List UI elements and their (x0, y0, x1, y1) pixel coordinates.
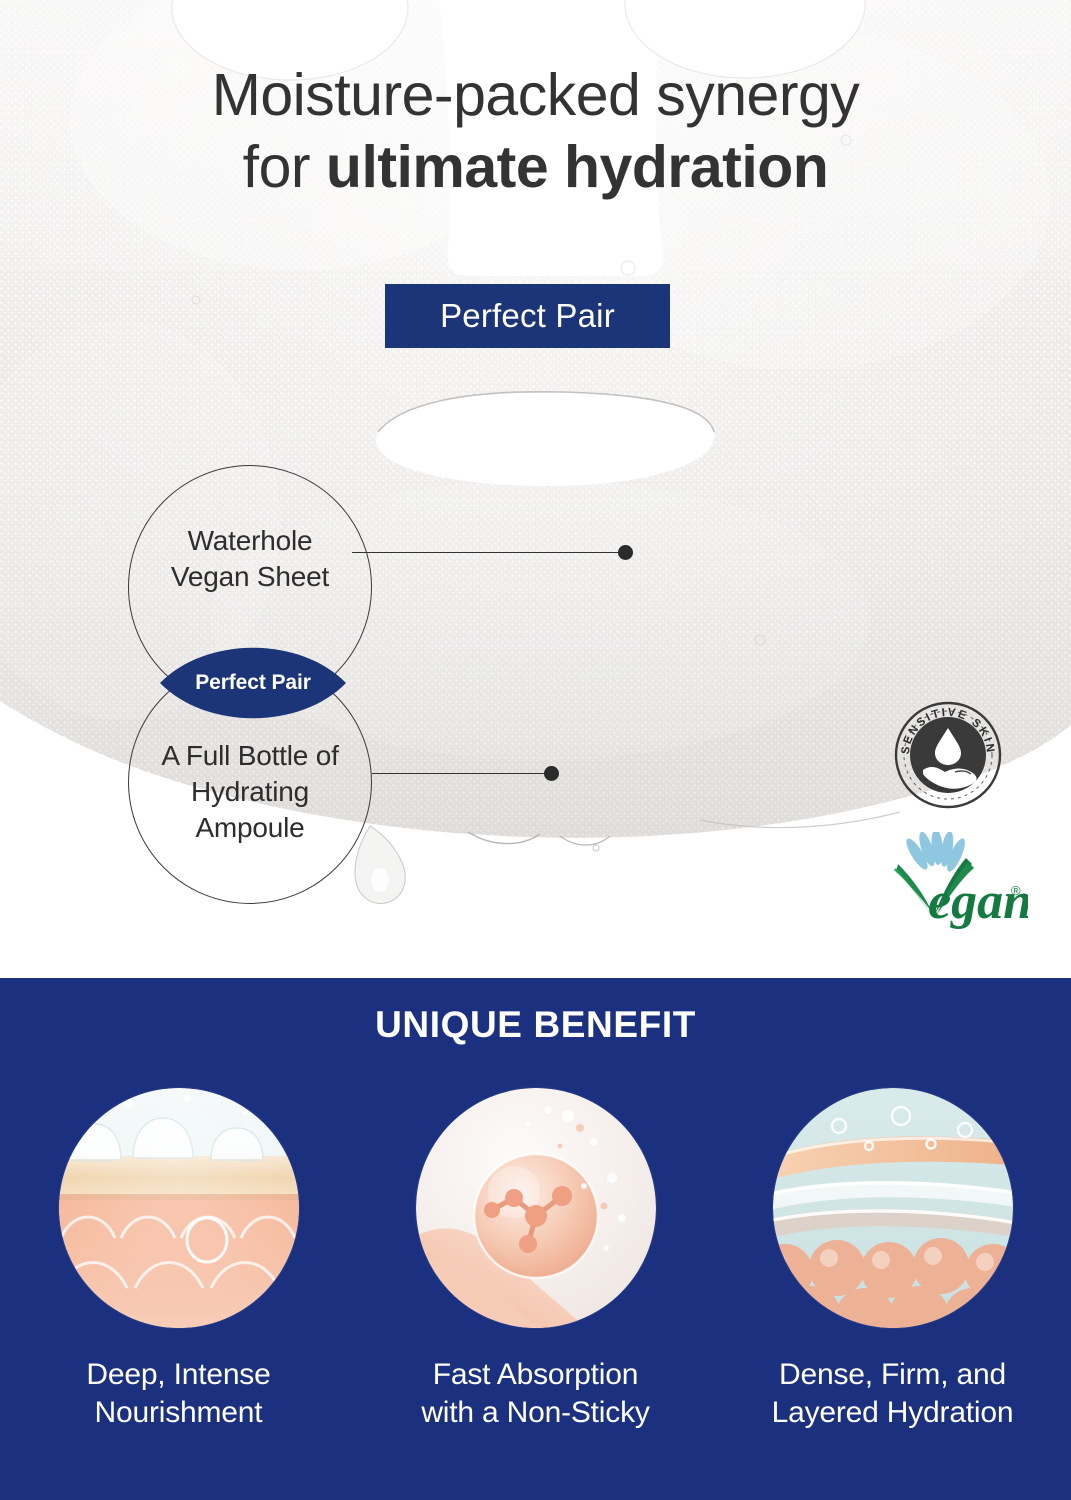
vegan-wordmark: egan (928, 873, 1028, 930)
registered-mark: ® (1011, 883, 1021, 898)
hero-section: Moisture-packed synergy for ultimate hyd… (0, 0, 1071, 978)
benefit-label-line-1: Deep, Intense (86, 1356, 270, 1394)
benefit-label-line-2: with a Non-Sticky (421, 1394, 649, 1432)
venn-label-sheet: Waterhole Vegan Sheet (128, 523, 372, 595)
leader-line-ampoule (372, 773, 552, 774)
benefit-list: Deep, Intense Nourishment (0, 1088, 1071, 1488)
benefit-label: Fast Absorption with a Non-Sticky (421, 1356, 649, 1433)
molecule-bubble-icon (416, 1088, 656, 1328)
leader-dot-ampoule (544, 766, 559, 781)
benefit-label: Dense, Firm, and Layered Hydration (772, 1356, 1014, 1433)
benefit-item: Fast Absorption with a Non-Sticky (366, 1088, 706, 1433)
leader-line-waterhole (352, 552, 625, 553)
benefit-item: Deep, Intense Nourishment (9, 1088, 349, 1433)
venn-label-ampoule: A Full Bottle of Hydrating Ampoule (128, 738, 372, 845)
sensitive-skin-tested-icon: SENSITIVE SKIN TESTED (893, 700, 1003, 810)
benefit-label-line-2: Nourishment (86, 1394, 270, 1432)
venn-overlap-lens: Perfect Pair (158, 644, 348, 722)
benefit-item: Dense, Firm, and Layered Hydration (723, 1088, 1063, 1433)
leader-dot-waterhole (618, 545, 633, 560)
unique-benefit-title: UNIQUE BENEFIT (0, 1004, 1071, 1046)
venn-label-ampoule-line-1: A Full Bottle of (128, 738, 372, 774)
venn-label-ampoule-line-3: Ampoule (128, 810, 372, 846)
venn-label-sheet-line-2: Vegan Sheet (128, 559, 372, 595)
layered-sheets-beads-icon (773, 1088, 1013, 1328)
product-infographic: Moisture-packed synergy for ultimate hyd… (0, 0, 1071, 1500)
venn-label-ampoule-line-2: Hydrating (128, 774, 372, 810)
venn-overlap-label: Perfect Pair (195, 671, 311, 695)
benefit-label-line-1: Dense, Firm, and (772, 1356, 1014, 1394)
benefit-label-line-1: Fast Absorption (421, 1356, 649, 1394)
skin-layers-droplets-icon (59, 1088, 299, 1328)
benefit-label: Deep, Intense Nourishment (86, 1356, 270, 1433)
venn-label-sheet-line-1: Waterhole (128, 523, 372, 559)
vegan-society-logo: egan ® (880, 832, 1028, 936)
benefit-label-line-2: Layered Hydration (772, 1394, 1014, 1432)
unique-benefit-section: UNIQUE BENEFIT (0, 978, 1071, 1500)
